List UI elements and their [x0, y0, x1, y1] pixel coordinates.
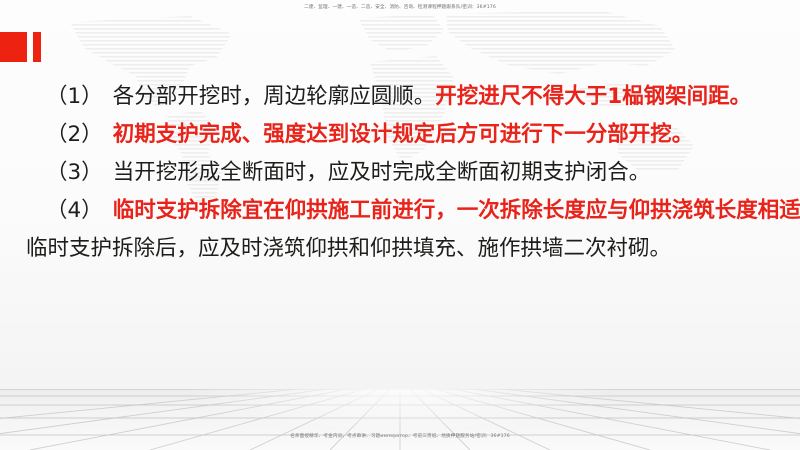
content-line-2: （2） 初期支护完成、强度达到设计规定后方可进行下一分部开挖。 [0, 116, 800, 154]
slide-body-content: （1） 各分部开挖时，周边轮廓应圆顺。 开挖进尺不得大于1榀钢架间距。 （2） … [0, 78, 800, 268]
list-marker-3: （3） [0, 154, 113, 192]
content-line-3: （3） 当开挖形成全断面时，应及时完成全断面初期支护闭合。 [0, 154, 800, 192]
content-line-1-segment-2: 开挖进尺不得大于1榀钢架间距。 [435, 78, 751, 116]
content-line-4: （4） 临时支护拆除宜在仰拱施工前进行，一次拆除长度应与仰拱浇筑长度相适用。 [0, 192, 800, 230]
content-line-1: （1） 各分部开挖时，周边轮廓应圆顺。 开挖进尺不得大于1榀钢架间距。 [0, 78, 800, 116]
slide-canvas: 二建、监理、一建、一造、二造、安全、消防、咨询、检测课程押题跟系队/密训：36#… [0, 0, 800, 450]
content-line-4-segment-1: 临时支护拆除宜在仰拱施工前进行，一次拆除长度应与仰拱浇筑长度相适用。 [113, 192, 800, 230]
red-block [0, 32, 27, 62]
footer-watermark-text: 名师面授精华、考金内训、考点串讲、习题император、考前三页纸、地质押题服… [0, 433, 800, 441]
content-line-5-segment-1: 临时支护拆除后，应及时浇筑仰拱和仰拱填充、施作拱墙二次衬砌。 [26, 230, 671, 268]
header-watermark-text: 二建、监理、一建、一造、二造、安全、消防、咨询、检测课程押题跟系队/密训：36#… [0, 4, 800, 12]
list-marker-2: （2） [0, 116, 113, 154]
list-marker-1: （1） [0, 78, 113, 116]
content-line-2-segment-1: 初期支护完成、强度达到设计规定后方可进行下一分部开挖。 [113, 116, 694, 154]
list-marker-4: （4） [0, 192, 113, 230]
red-bar [33, 32, 41, 62]
red-accent-decoration [0, 32, 41, 62]
content-line-1-segment-1: 各分部开挖时，周边轮廓应圆顺。 [113, 78, 436, 116]
content-line-5: 临时支护拆除后，应及时浇筑仰拱和仰拱填充、施作拱墙二次衬砌。 [0, 230, 800, 268]
content-line-3-segment-1: 当开挖形成全断面时，应及时完成全断面初期支护闭合。 [113, 154, 651, 192]
